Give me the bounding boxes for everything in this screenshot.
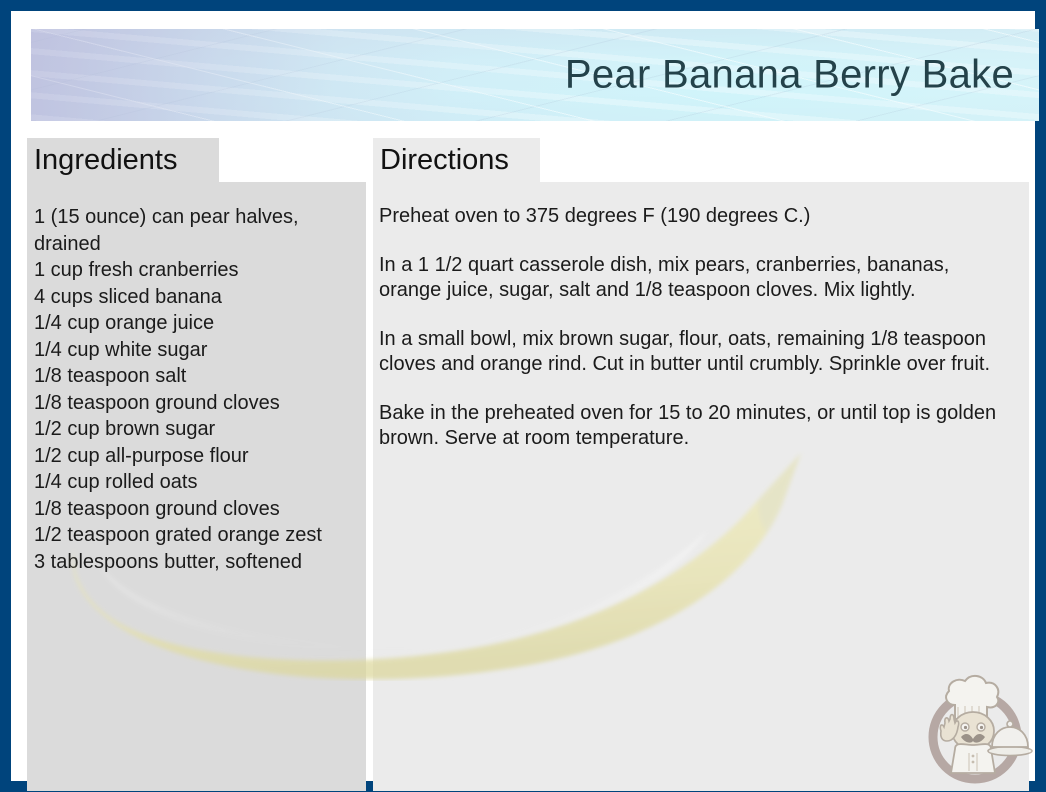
- ingredient-item: 1/4 cup rolled oats: [34, 469, 356, 496]
- ingredient-item: 1/2 cup all-purpose flour: [34, 443, 356, 470]
- directions-heading-label: Directions: [380, 144, 509, 176]
- ingredient-item: 1 cup fresh cranberries: [34, 257, 356, 284]
- direction-step: Preheat oven to 375 degrees F (190 degre…: [379, 204, 1015, 229]
- direction-step: In a small bowl, mix brown sugar, flour,…: [379, 327, 1015, 377]
- ingredient-item: 1/2 teaspoon grated orange zest: [34, 522, 356, 549]
- direction-step: In a 1 1/2 quart casserole dish, mix pea…: [379, 253, 1015, 303]
- ingredient-item: 1/8 teaspoon salt: [34, 363, 356, 390]
- ingredients-heading-label: Ingredients: [34, 144, 178, 176]
- ingredient-item: 1 (15 ounce) can pear halves, drained: [34, 204, 356, 257]
- ingredient-item: 3 tablespoons butter, softened: [34, 549, 356, 576]
- ingredient-item: 1/2 cup brown sugar: [34, 416, 356, 443]
- page-canvas: Pear Banana Berry Bake Ingredients 1 (15…: [11, 11, 1035, 781]
- directions-heading: Directions: [373, 138, 540, 182]
- recipe-card-page: Pear Banana Berry Bake Ingredients 1 (15…: [0, 0, 1046, 792]
- ingredients-panel: 1 (15 ounce) can pear halves, drained 1 …: [27, 182, 366, 791]
- ingredient-item: 4 cups sliced banana: [34, 284, 356, 311]
- page-title: Pear Banana Berry Bake: [565, 53, 1014, 98]
- directions-panel: Preheat oven to 375 degrees F (190 degre…: [373, 182, 1029, 791]
- ingredient-item: 1/8 teaspoon ground cloves: [34, 390, 356, 417]
- ingredient-item: 1/8 teaspoon ground cloves: [34, 496, 356, 523]
- ingredient-item: 1/4 cup white sugar: [34, 337, 356, 364]
- title-banner: Pear Banana Berry Bake: [31, 29, 1039, 121]
- ingredient-item: 1/4 cup orange juice: [34, 310, 356, 337]
- ingredients-heading: Ingredients: [27, 138, 219, 182]
- direction-step: Bake in the preheated oven for 15 to 20 …: [379, 401, 1015, 451]
